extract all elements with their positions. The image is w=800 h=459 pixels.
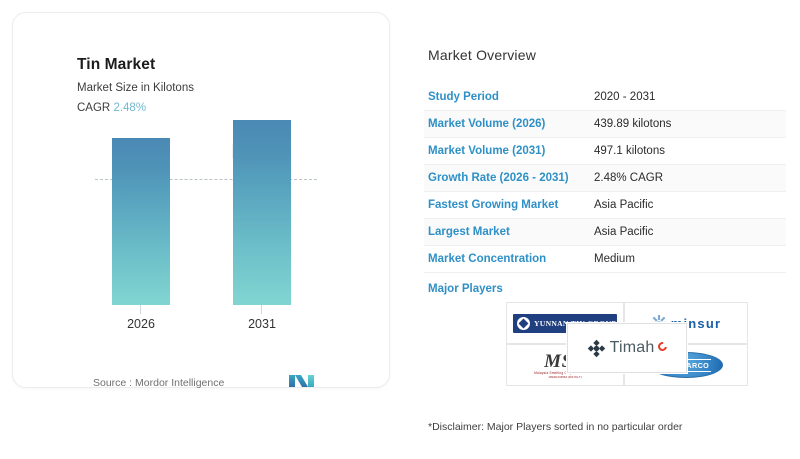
source-text: Source : Mordor Intelligence — [93, 377, 224, 389]
axis-tick-2026 — [140, 305, 141, 314]
row-value: Medium — [594, 253, 635, 265]
chart-title: Tin Market — [77, 56, 155, 74]
yunnan-emblem-icon — [517, 317, 530, 330]
row-value: 2.48% CAGR — [594, 172, 663, 184]
bar-2031[interactable] — [233, 120, 291, 305]
disclaimer-text: *Disclaimer: Major Players sorted in no … — [428, 421, 682, 433]
table-row: Market Volume (2031) 497.1 kilotons — [424, 138, 786, 165]
table-row: Fastest Growing Market Asia Pacific — [424, 192, 786, 219]
row-value: Asia Pacific — [594, 199, 653, 211]
row-label: Study Period — [424, 91, 594, 103]
screenshot-root: Tin Market Market Size in Kilotons CAGR … — [0, 0, 800, 459]
row-value: 2020 - 2031 — [594, 91, 655, 103]
table-row: Market Concentration Medium — [424, 246, 786, 273]
major-players-logo-grid: YUNNAN TIN GROUP minsur — [506, 302, 748, 386]
msc-logo-subtext-2: 199401016562 (301701-T) — [534, 376, 596, 379]
row-value: Asia Pacific — [594, 226, 653, 238]
table-row: Market Volume (2026) 439.89 kilotons — [424, 111, 786, 138]
x-axis-label-2026: 2026 — [112, 317, 170, 331]
row-value: 439.89 kilotons — [594, 118, 671, 130]
timah-diamond-icon — [587, 339, 606, 358]
timah-logo-wrap: Timah — [587, 339, 668, 358]
overview-title: Market Overview — [428, 47, 536, 63]
cagr-label: CAGR — [77, 102, 110, 114]
chart-card: Tin Market Market Size in Kilotons CAGR … — [12, 12, 390, 388]
x-axis-label-2031: 2031 — [233, 317, 291, 331]
table-row: Growth Rate (2026 - 2031) 2.48% CAGR — [424, 165, 786, 192]
row-label: Market Volume (2031) — [424, 145, 594, 157]
row-label: Market Volume (2026) — [424, 118, 594, 130]
axis-tick-2031 — [261, 305, 262, 314]
row-label: Fastest Growing Market — [424, 199, 594, 211]
bar-2026[interactable] — [112, 138, 170, 305]
table-row: Study Period 2020 - 2031 — [424, 84, 786, 111]
player-logo-timah: Timah — [567, 323, 687, 373]
major-players-label: Major Players — [428, 283, 503, 295]
chart-subtitle: Market Size in Kilotons — [77, 82, 194, 94]
table-row: Largest Market Asia Pacific — [424, 219, 786, 246]
row-label: Largest Market — [424, 226, 594, 238]
cagr-value: 2.48% — [113, 102, 146, 114]
chart-cagr-line: CAGR 2.48% — [77, 102, 146, 114]
timah-red-mark-icon — [657, 340, 670, 353]
row-label: Market Concentration — [424, 253, 594, 265]
row-label: Growth Rate (2026 - 2031) — [424, 172, 594, 184]
market-overview-table: Study Period 2020 - 2031 Market Volume (… — [424, 84, 786, 273]
row-value: 497.1 kilotons — [594, 145, 665, 157]
timah-logo-text: Timah — [610, 339, 655, 357]
bar-chart-plot: 439.89 497.10 2026 2031 — [13, 123, 391, 353]
mordor-intelligence-logo — [289, 373, 315, 389]
